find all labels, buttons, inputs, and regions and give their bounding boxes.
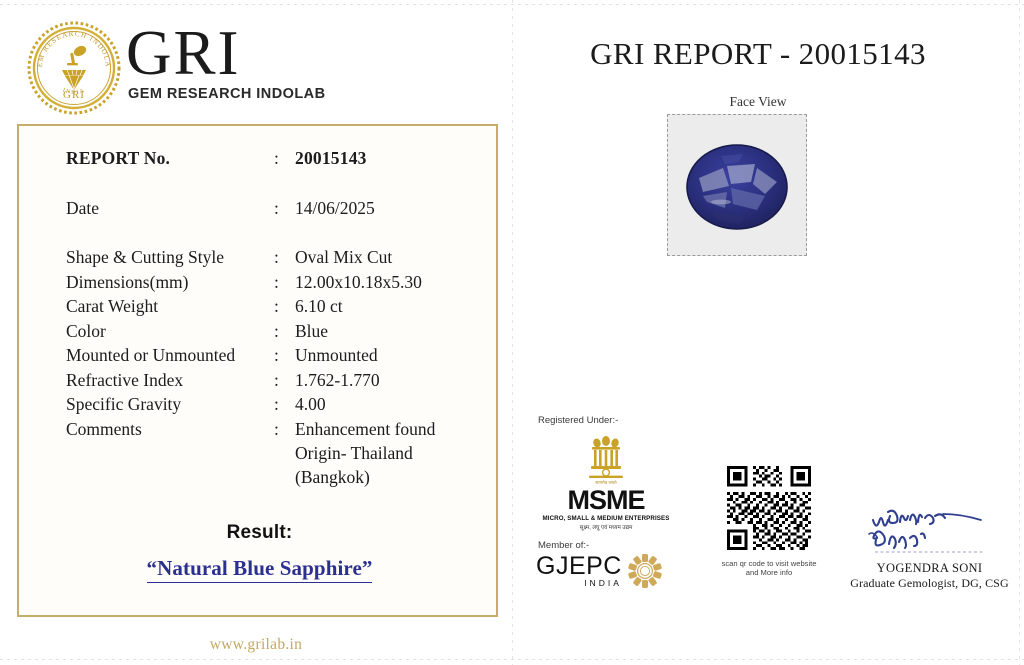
table-row: Carat Weight : 6.10 ct (66, 294, 486, 319)
row-label: Refractive Index (66, 368, 274, 393)
certificate-page: GEM RESEARCH INDOLAB INDIA (0, 0, 1024, 665)
table-row: Color : Blue (66, 319, 486, 344)
registered-under-label: Registered Under:- (538, 415, 676, 426)
row-value: Oval Mix Cut (295, 245, 486, 270)
gjepc-logo: GJEPC INDIA (536, 552, 676, 590)
row-label: Color (66, 319, 274, 344)
qr-block: scan qr code to visit website and More i… (719, 466, 819, 577)
row-label: Carat Weight (66, 294, 274, 319)
report-rows: REPORT No. : 20015143 Date : 14/06/2025 … (66, 146, 486, 489)
table-row: Specific Gravity : 4.00 (66, 392, 486, 417)
member-of-label: Member of:- (538, 540, 676, 551)
comments-second-line: Origin- Thailand (Bangkok) (66, 441, 486, 489)
row-value: 6.10 ct (295, 294, 486, 319)
gem-photo (667, 114, 807, 256)
handwritten-signature (855, 500, 1005, 560)
gjepc-wordmark: GJEPC (536, 554, 622, 579)
result-label: Result: (19, 522, 500, 544)
table-row: Shape & Cutting Style : Oval Mix Cut (66, 245, 486, 270)
row-separator: : (274, 392, 295, 417)
row-label: Mounted or Unmounted (66, 343, 274, 368)
brand-header: GEM RESEARCH INDOLAB INDIA (18, 18, 318, 118)
row-value: 12.00x10.18x5.30 (295, 270, 486, 295)
svg-text:GRI: GRI (63, 89, 85, 101)
ashoka-emblem-icon: सत्यमेव जयते (578, 430, 634, 486)
gri-seal-icon: GEM RESEARCH INDOLAB INDIA (26, 20, 122, 116)
row-label: Specific Gravity (66, 392, 274, 417)
result-section: Result: “Natural Blue Sapphire” (19, 522, 500, 583)
comments-indent (66, 441, 295, 489)
msme-wordmark: MSME (536, 487, 676, 514)
table-row: REPORT No. : 20015143 (66, 146, 486, 170)
brand-wordmark: GRI GEM RESEARCH INDOLAB (126, 22, 326, 102)
row-label: Comments (66, 417, 274, 442)
row-separator: : (274, 319, 295, 344)
table-row: Refractive Index : 1.762-1.770 (66, 368, 486, 393)
accreditation-block: Registered Under:- (536, 415, 676, 590)
row-value: 14/06/2025 (295, 196, 486, 220)
brand-tagline: GEM RESEARCH INDOLAB (128, 86, 326, 102)
report-card: REPORT No. : 20015143 Date : 14/06/2025 … (17, 124, 498, 617)
qr-caption: scan qr code to visit website and More i… (719, 559, 819, 577)
footer-website: www.grilab.in (0, 636, 512, 654)
row-value: 1.762-1.770 (295, 368, 486, 393)
row-value: 20015143 (295, 146, 486, 170)
row-separator: : (274, 245, 295, 270)
table-row: Dimensions(mm) : 12.00x10.18x5.30 (66, 270, 486, 295)
row-spacer (66, 220, 486, 245)
msme-subtitle: MICRO, SMALL & MEDIUM ENTERPRISES (536, 515, 676, 522)
right-panel: GRI REPORT - 20015143 Face View (512, 0, 1024, 665)
page-title: GRI REPORT - 20015143 (512, 36, 1004, 72)
signature-block: YOGENDRA SONI Graduate Gemologist, DG, C… (847, 500, 1012, 591)
signatory-role: Graduate Gemologist, DG, CSG (847, 576, 1012, 591)
qr-caption-line1: scan qr code to visit website (722, 559, 817, 568)
row-separator: : (274, 343, 295, 368)
msme-subtitle-hindi: सूक्ष्म, लघु एवं मध्यम उद्यम (536, 523, 676, 531)
result-value: “Natural Blue Sapphire” (147, 556, 373, 583)
qr-caption-line2: and More info (746, 568, 792, 577)
left-panel: GEM RESEARCH INDOLAB INDIA (0, 0, 512, 665)
row-separator: : (274, 294, 295, 319)
row-label: Dimensions(mm) (66, 270, 274, 295)
row-label: REPORT No. (66, 146, 274, 170)
row-separator: : (274, 146, 295, 170)
row-label: Shape & Cutting Style (66, 245, 274, 270)
qr-code-icon[interactable] (727, 466, 811, 550)
signatory-name: YOGENDRA SONI (847, 561, 1012, 576)
row-value: Unmounted (295, 343, 486, 368)
row-spacer (66, 170, 486, 196)
row-separator: : (274, 196, 295, 220)
row-value: 4.00 (295, 392, 486, 417)
table-row: Mounted or Unmounted : Unmounted (66, 343, 486, 368)
row-value: Enhancement found (295, 417, 486, 442)
row-label: Date (66, 196, 274, 220)
brand-name: GRI (126, 22, 326, 84)
comments-origin: Origin- Thailand (Bangkok) (295, 441, 486, 489)
gjepc-emblem-icon (626, 552, 664, 590)
table-row: Date : 14/06/2025 (66, 196, 486, 220)
face-view-label: Face View (512, 94, 1004, 110)
row-value: Blue (295, 319, 486, 344)
table-row: Comments : Enhancement found (66, 417, 486, 442)
row-separator: : (274, 368, 295, 393)
row-separator: : (274, 270, 295, 295)
row-separator: : (274, 417, 295, 442)
